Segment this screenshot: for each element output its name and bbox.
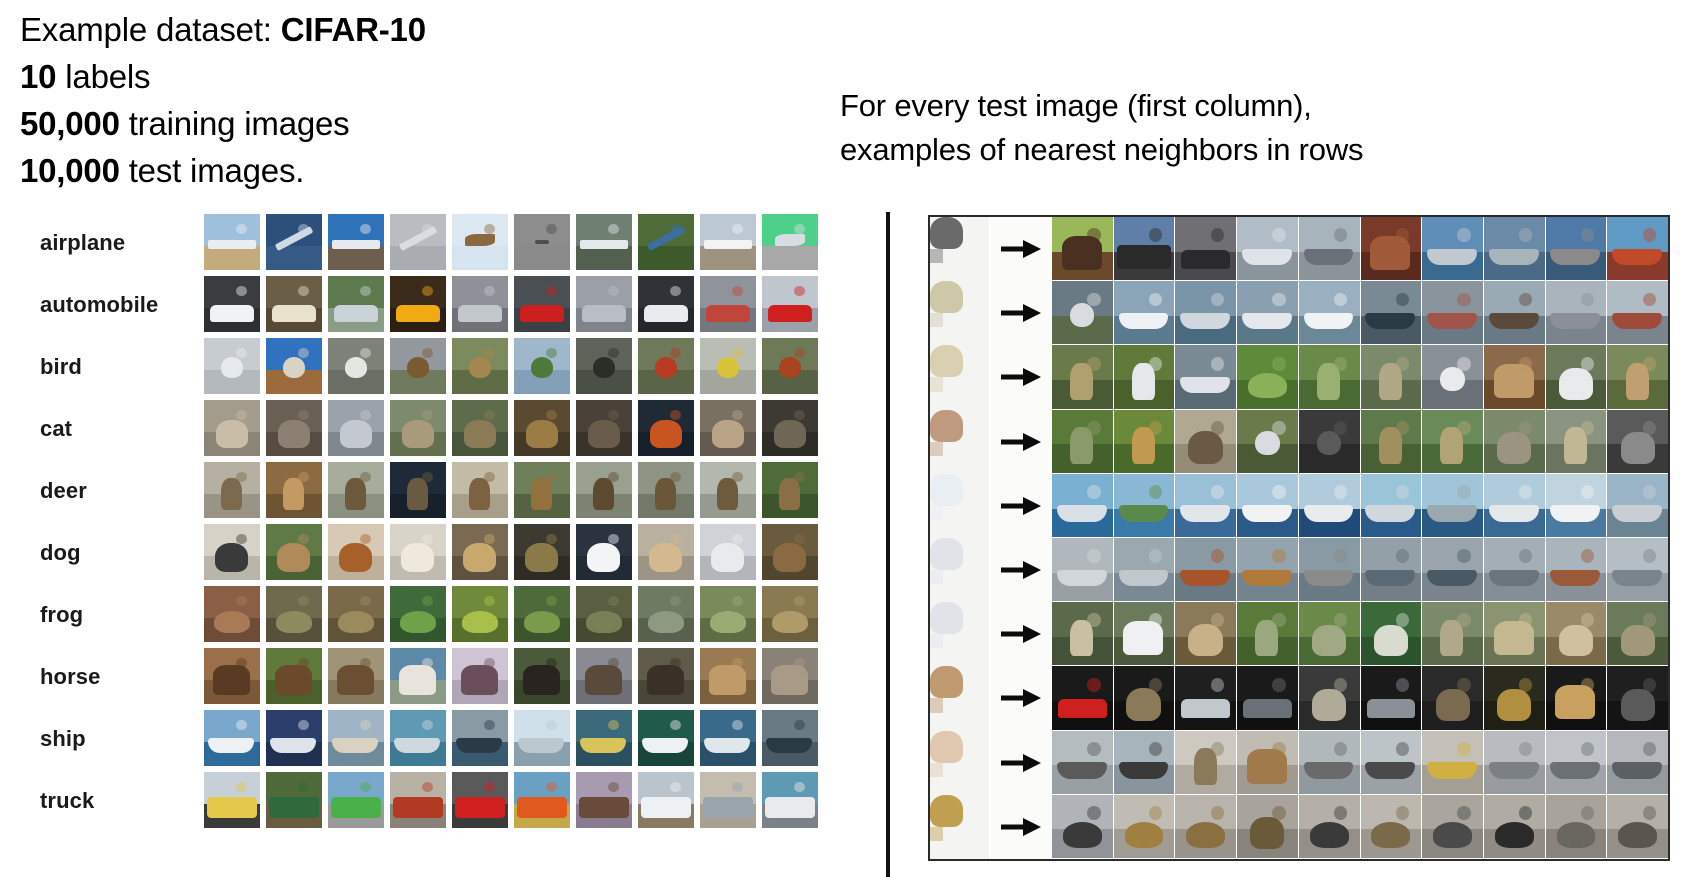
nn-neighbor-image[interactable] xyxy=(1361,217,1423,281)
thumb-highlight xyxy=(236,472,246,482)
class-thumbnail[interactable] xyxy=(514,710,570,766)
class-thumbnail[interactable] xyxy=(576,710,632,766)
nn-neighbor-image[interactable] xyxy=(1114,795,1176,859)
nn-neighbor-image[interactable] xyxy=(1361,795,1423,859)
nn-neighbor-image[interactable] xyxy=(1237,410,1299,474)
dataset-title-prefix: Example dataset: xyxy=(20,11,281,48)
nn-neighbor-image[interactable] xyxy=(1361,474,1423,538)
nn-neighbor-image[interactable] xyxy=(1422,217,1484,281)
thumb-highlight xyxy=(298,658,308,668)
thumb-subject xyxy=(1312,625,1346,657)
class-thumb-strip xyxy=(204,276,818,332)
nn-neighbor-image[interactable] xyxy=(1546,602,1608,666)
class-thumbnail[interactable] xyxy=(514,400,570,456)
thumb-highlight xyxy=(608,348,618,358)
nn-test-image[interactable] xyxy=(930,345,990,409)
thumb-sky xyxy=(638,276,694,308)
thumb-subject xyxy=(1559,625,1593,657)
class-thumbnail[interactable] xyxy=(266,586,322,642)
class-thumbnail[interactable] xyxy=(638,772,694,828)
nn-neighbor-image[interactable] xyxy=(1546,217,1608,281)
thumb-subject xyxy=(1125,822,1164,847)
class-thumbnail[interactable] xyxy=(390,648,446,704)
training-images-label: training images xyxy=(120,105,350,142)
class-thumbnail[interactable] xyxy=(204,648,260,704)
class-thumbnail[interactable] xyxy=(638,710,694,766)
nn-neighbor-image[interactable] xyxy=(1484,345,1546,409)
nn-neighbor-image[interactable] xyxy=(1546,281,1608,345)
class-thumbnail[interactable] xyxy=(328,648,384,704)
class-thumbnail[interactable] xyxy=(390,400,446,456)
nn-neighbor-image[interactable] xyxy=(1361,410,1423,474)
class-thumbnail[interactable] xyxy=(266,524,322,580)
nn-test-image[interactable] xyxy=(930,666,990,730)
thumb-highlight xyxy=(360,596,370,606)
nn-neighbor-image[interactable] xyxy=(1114,602,1176,666)
nn-arrow-cell xyxy=(990,602,1052,666)
class-thumb-strip xyxy=(204,648,818,704)
thumb-highlight xyxy=(1643,806,1656,820)
class-thumbnail[interactable] xyxy=(514,772,570,828)
labels-count-line: 10 labels xyxy=(20,53,820,100)
class-thumbnail[interactable] xyxy=(638,648,694,704)
class-thumbnail[interactable] xyxy=(328,524,384,580)
thumb-highlight xyxy=(236,286,246,296)
nn-neighbor-image[interactable] xyxy=(1237,602,1299,666)
thumb-sky xyxy=(514,276,570,308)
class-thumbnail[interactable] xyxy=(328,276,384,332)
thumb-highlight xyxy=(484,348,494,358)
nn-neighbor-image[interactable] xyxy=(1422,345,1484,409)
class-thumbnail[interactable] xyxy=(266,338,322,394)
thumb-highlight xyxy=(670,348,680,358)
class-thumbnail[interactable] xyxy=(204,276,260,332)
nn-test-image[interactable] xyxy=(930,474,990,538)
class-thumbnail[interactable] xyxy=(762,214,818,270)
class-thumbnail[interactable] xyxy=(762,276,818,332)
class-thumbnail[interactable] xyxy=(204,710,260,766)
thumb-subject xyxy=(208,738,254,753)
nn-neighbor-strip xyxy=(1052,666,1668,730)
nn-neighbor-image[interactable] xyxy=(1175,474,1237,538)
nn-neighbor-image[interactable] xyxy=(1607,731,1668,795)
thumb-subject xyxy=(579,797,628,818)
nn-neighbor-image[interactable] xyxy=(1422,602,1484,666)
nn-neighbor-image[interactable] xyxy=(1607,795,1668,859)
nn-neighbor-image[interactable] xyxy=(1607,410,1668,474)
class-thumbnail[interactable] xyxy=(576,772,632,828)
thumb-subject xyxy=(1371,822,1410,847)
nn-test-image[interactable] xyxy=(930,281,990,345)
thumb-highlight xyxy=(732,348,742,358)
class-thumbnail[interactable] xyxy=(266,648,322,704)
panel-divider xyxy=(886,212,890,877)
nn-neighbor-image[interactable] xyxy=(1422,474,1484,538)
thumb-subject xyxy=(1489,313,1539,329)
class-thumbnail[interactable] xyxy=(576,214,632,270)
nn-neighbor-image[interactable] xyxy=(1114,731,1176,795)
nn-neighbor-image[interactable] xyxy=(1422,666,1484,730)
class-thumbnail[interactable] xyxy=(328,462,384,518)
class-thumbnail[interactable] xyxy=(762,710,818,766)
thumb-highlight xyxy=(360,472,370,482)
class-thumbnail[interactable] xyxy=(390,276,446,332)
nn-neighbor-image[interactable] xyxy=(1237,666,1299,730)
class-thumbnail[interactable] xyxy=(638,462,694,518)
class-thumbnail[interactable] xyxy=(452,524,508,580)
nn-test-image[interactable] xyxy=(930,795,990,859)
class-thumbnail[interactable] xyxy=(700,400,756,456)
nn-neighbor-image[interactable] xyxy=(1607,666,1668,730)
nn-neighbor-image[interactable] xyxy=(1052,602,1114,666)
thumb-highlight xyxy=(1087,293,1100,307)
class-thumbnail[interactable] xyxy=(700,772,756,828)
nn-neighbor-image[interactable] xyxy=(1299,795,1361,859)
thumb-subject xyxy=(1618,822,1657,847)
thumb-sky xyxy=(1607,217,1668,252)
class-thumbnail[interactable] xyxy=(390,462,446,518)
dataset-name: CIFAR-10 xyxy=(281,11,426,48)
nn-neighbor-image[interactable] xyxy=(1237,538,1299,602)
nn-neighbor-image[interactable] xyxy=(1175,602,1237,666)
nn-neighbor-image[interactable] xyxy=(1299,217,1361,281)
thumb-subject xyxy=(1117,245,1170,269)
nn-neighbor-image[interactable] xyxy=(1175,731,1237,795)
nn-arrow-cell xyxy=(990,345,1052,409)
class-thumbnail[interactable] xyxy=(762,524,818,580)
nn-neighbor-image[interactable] xyxy=(1114,281,1176,345)
nn-neighbor-image[interactable] xyxy=(1052,281,1114,345)
nn-neighbor-image[interactable] xyxy=(1361,666,1423,730)
class-thumbnail[interactable] xyxy=(204,462,260,518)
thumb-subject xyxy=(401,543,433,572)
nn-row xyxy=(930,345,1668,409)
nn-neighbor-image[interactable] xyxy=(1175,345,1237,409)
class-thumbnail[interactable] xyxy=(514,586,570,642)
class-thumbnail[interactable] xyxy=(204,214,260,270)
nn-neighbor-image[interactable] xyxy=(1175,538,1237,602)
thumb-ground xyxy=(762,246,818,270)
class-thumbnail[interactable] xyxy=(328,586,384,642)
nn-neighbor-image[interactable] xyxy=(1175,410,1237,474)
class-thumbnail[interactable] xyxy=(266,276,322,332)
thumb-highlight xyxy=(1581,678,1594,692)
nn-test-image[interactable] xyxy=(930,217,990,281)
class-thumbnail[interactable] xyxy=(638,214,694,270)
nn-neighbor-image[interactable] xyxy=(1484,666,1546,730)
nn-neighbor-image[interactable] xyxy=(1484,795,1546,859)
class-thumbnail[interactable] xyxy=(638,586,694,642)
nn-neighbor-image[interactable] xyxy=(1361,345,1423,409)
class-thumbnail[interactable] xyxy=(576,338,632,394)
class-thumbnail[interactable] xyxy=(638,276,694,332)
class-thumbnail[interactable] xyxy=(762,648,818,704)
class-thumbnail[interactable] xyxy=(576,276,632,332)
nn-neighbor-image[interactable] xyxy=(1607,474,1668,538)
thumb-sky xyxy=(1175,538,1236,573)
class-thumbnail[interactable] xyxy=(700,710,756,766)
nn-neighbor-image[interactable] xyxy=(1607,281,1668,345)
nn-neighbor-image[interactable] xyxy=(1546,410,1608,474)
training-images-line: 50,000 training images xyxy=(20,100,820,147)
nn-neighbor-image[interactable] xyxy=(1052,731,1114,795)
thumb-highlight xyxy=(794,410,804,420)
class-thumbnail[interactable] xyxy=(700,462,756,518)
nn-arrow-cell xyxy=(990,217,1052,281)
thumb-sky xyxy=(1237,217,1298,252)
class-thumbnail[interactable] xyxy=(328,400,384,456)
class-thumbnail[interactable] xyxy=(328,338,384,394)
class-thumbnail[interactable] xyxy=(390,214,446,270)
thumb-subject xyxy=(1242,313,1292,329)
nn-neighbor-image[interactable] xyxy=(1052,345,1114,409)
nn-test-image[interactable] xyxy=(930,731,990,795)
nn-neighbor-image[interactable] xyxy=(1484,538,1546,602)
nn-neighbor-image[interactable] xyxy=(1361,731,1423,795)
class-thumbnail[interactable] xyxy=(514,338,570,394)
class-thumbnail[interactable] xyxy=(390,524,446,580)
class-thumbnail[interactable] xyxy=(390,772,446,828)
class-thumbnail[interactable] xyxy=(514,214,570,270)
nn-neighbor-image[interactable] xyxy=(1114,538,1176,602)
nn-neighbor-strip xyxy=(1052,345,1668,409)
nn-neighbor-image[interactable] xyxy=(1299,474,1361,538)
thumb-highlight xyxy=(930,249,943,263)
thumb-highlight xyxy=(1211,228,1224,242)
class-thumbnail[interactable] xyxy=(576,462,632,518)
class-thumbnail[interactable] xyxy=(204,400,260,456)
thumb-highlight xyxy=(1334,678,1347,692)
nn-neighbor-image[interactable] xyxy=(1237,474,1299,538)
class-thumbnail[interactable] xyxy=(266,214,322,270)
class-thumbnail[interactable] xyxy=(514,462,570,518)
thumb-ground xyxy=(700,246,756,270)
thumb-highlight xyxy=(1581,806,1594,820)
nn-test-image[interactable] xyxy=(930,602,990,666)
thumb-highlight xyxy=(608,286,618,296)
nn-neighbor-image[interactable] xyxy=(1052,217,1114,281)
nn-neighbor-image[interactable] xyxy=(1546,538,1608,602)
thumb-highlight xyxy=(608,472,618,482)
class-thumbnail[interactable] xyxy=(700,586,756,642)
nn-neighbor-image[interactable] xyxy=(1361,538,1423,602)
class-thumbnail[interactable] xyxy=(700,276,756,332)
class-thumb-strip xyxy=(204,462,818,518)
nn-neighbor-image[interactable] xyxy=(1175,281,1237,345)
class-thumbnail[interactable] xyxy=(328,214,384,270)
class-thumbnail[interactable] xyxy=(452,710,508,766)
nn-neighbor-image[interactable] xyxy=(1114,345,1176,409)
nn-neighbor-image[interactable] xyxy=(1546,666,1608,730)
nn-neighbor-image[interactable] xyxy=(1607,602,1668,666)
nn-neighbor-image[interactable] xyxy=(1546,345,1608,409)
nn-neighbor-image[interactable] xyxy=(1299,666,1361,730)
thumb-subject xyxy=(1242,570,1292,586)
class-thumbnail[interactable] xyxy=(266,710,322,766)
thumb-subject xyxy=(400,611,436,633)
class-thumbnail[interactable] xyxy=(762,772,818,828)
nn-neighbor-image[interactable] xyxy=(1114,666,1176,730)
nn-neighbor-image[interactable] xyxy=(1237,345,1299,409)
thumb-sky xyxy=(328,276,384,308)
nn-neighbor-image[interactable] xyxy=(1175,666,1237,730)
thumb-sky xyxy=(1607,538,1668,573)
thumb-subject xyxy=(930,795,963,827)
nn-neighbor-image[interactable] xyxy=(1175,217,1237,281)
nn-neighbor-image[interactable] xyxy=(1237,795,1299,859)
class-thumbnail[interactable] xyxy=(452,586,508,642)
class-thumbnail[interactable] xyxy=(266,462,322,518)
nn-neighbor-image[interactable] xyxy=(1299,345,1361,409)
class-thumbnail[interactable] xyxy=(700,338,756,394)
thumb-highlight xyxy=(930,506,943,520)
thumb-ground xyxy=(576,246,632,270)
nn-neighbor-image[interactable] xyxy=(1607,538,1668,602)
class-thumbnail[interactable] xyxy=(514,648,570,704)
thumb-sky xyxy=(1484,474,1545,509)
nn-neighbor-image[interactable] xyxy=(1237,281,1299,345)
class-thumbnail[interactable] xyxy=(452,648,508,704)
nn-neighbor-image[interactable] xyxy=(1422,795,1484,859)
class-thumbnail[interactable] xyxy=(576,586,632,642)
class-thumbnail[interactable] xyxy=(576,524,632,580)
class-row: airplane xyxy=(22,212,872,274)
thumb-sky xyxy=(1237,474,1298,509)
nn-neighbor-image[interactable] xyxy=(1299,538,1361,602)
nn-neighbor-image[interactable] xyxy=(1484,731,1546,795)
class-row: dog xyxy=(22,522,872,584)
class-thumbnail[interactable] xyxy=(700,648,756,704)
nn-neighbor-image[interactable] xyxy=(1052,538,1114,602)
nn-neighbor-image[interactable] xyxy=(1484,217,1546,281)
nn-neighbor-image[interactable] xyxy=(1114,410,1176,474)
class-thumbnail[interactable] xyxy=(452,214,508,270)
class-thumbnail[interactable] xyxy=(638,400,694,456)
thumb-subject xyxy=(283,357,305,378)
class-thumbnail[interactable] xyxy=(452,400,508,456)
thumb-subject xyxy=(221,357,243,378)
class-thumbnail[interactable] xyxy=(390,338,446,394)
thumb-sky xyxy=(1114,281,1175,316)
thumb-highlight xyxy=(546,286,556,296)
nn-neighbor-image[interactable] xyxy=(1361,602,1423,666)
thumb-highlight xyxy=(732,658,742,668)
thumb-highlight xyxy=(670,410,680,420)
class-thumbnail[interactable] xyxy=(762,338,818,394)
nn-neighbor-image[interactable] xyxy=(1237,217,1299,281)
thumb-sky xyxy=(1175,217,1236,252)
thumb-subject xyxy=(1119,505,1169,521)
class-thumbnail[interactable] xyxy=(700,214,756,270)
thumb-subject xyxy=(339,543,371,572)
class-thumbnail[interactable] xyxy=(204,586,260,642)
class-thumbnail[interactable] xyxy=(452,338,508,394)
class-thumbnail[interactable] xyxy=(576,400,632,456)
nn-neighbor-image[interactable] xyxy=(1546,795,1608,859)
nn-row xyxy=(930,281,1668,345)
class-thumbnail[interactable] xyxy=(266,400,322,456)
nn-neighbor-image[interactable] xyxy=(1299,281,1361,345)
nn-neighbor-image[interactable] xyxy=(1052,666,1114,730)
nn-neighbor-image[interactable] xyxy=(1175,795,1237,859)
class-thumbnail[interactable] xyxy=(576,648,632,704)
class-thumbnail[interactable] xyxy=(204,524,260,580)
thumb-highlight xyxy=(422,286,432,296)
nn-neighbor-image[interactable] xyxy=(1607,345,1668,409)
thumb-subject xyxy=(1304,313,1354,329)
class-thumbnail[interactable] xyxy=(762,400,818,456)
nn-test-image[interactable] xyxy=(930,410,990,474)
class-thumbnail[interactable] xyxy=(514,524,570,580)
nn-neighbor-image[interactable] xyxy=(1361,281,1423,345)
nn-neighbor-image[interactable] xyxy=(1484,602,1546,666)
thumb-highlight xyxy=(1272,742,1285,756)
thumb-subject xyxy=(1427,313,1477,329)
class-thumbnail[interactable] xyxy=(390,710,446,766)
nn-neighbor-image[interactable] xyxy=(1114,474,1176,538)
class-thumbnail[interactable] xyxy=(452,276,508,332)
nn-neighbor-image[interactable] xyxy=(1299,410,1361,474)
class-thumbnail[interactable] xyxy=(204,338,260,394)
class-thumbnail[interactable] xyxy=(390,586,446,642)
thumb-sky xyxy=(1237,281,1298,316)
class-thumbnail[interactable] xyxy=(762,586,818,642)
nn-neighbor-image[interactable] xyxy=(1052,474,1114,538)
thumb-highlight xyxy=(1211,549,1224,563)
thumb-subject xyxy=(1119,313,1169,329)
class-thumbnail[interactable] xyxy=(452,462,508,518)
thumb-subject xyxy=(337,665,374,695)
nn-neighbor-image[interactable] xyxy=(1422,731,1484,795)
nn-neighbor-image[interactable] xyxy=(1484,410,1546,474)
nn-neighbor-image[interactable] xyxy=(1052,410,1114,474)
class-thumbnail[interactable] xyxy=(328,710,384,766)
class-thumbnail[interactable] xyxy=(204,772,260,828)
nn-neighbor-image[interactable] xyxy=(1546,474,1608,538)
nn-neighbor-image[interactable] xyxy=(1546,731,1608,795)
nn-test-image[interactable] xyxy=(930,538,990,602)
class-thumbnail[interactable] xyxy=(638,338,694,394)
class-thumbnail[interactable] xyxy=(266,772,322,828)
nn-neighbor-image[interactable] xyxy=(1114,217,1176,281)
class-thumbnail[interactable] xyxy=(762,462,818,518)
thumb-subject xyxy=(394,738,440,753)
nn-neighbor-image[interactable] xyxy=(1422,538,1484,602)
thumb-subject xyxy=(647,665,684,695)
thumb-highlight xyxy=(546,410,556,420)
thumb-highlight xyxy=(930,570,943,584)
nn-neighbor-image[interactable] xyxy=(1484,474,1546,538)
class-thumbnail[interactable] xyxy=(638,524,694,580)
nn-neighbor-image[interactable] xyxy=(1052,795,1114,859)
thumb-subject xyxy=(221,478,242,510)
thumb-subject xyxy=(1304,570,1354,586)
class-thumbnail[interactable] xyxy=(700,524,756,580)
nn-neighbor-image[interactable] xyxy=(1237,731,1299,795)
nn-neighbor-image[interactable] xyxy=(1484,281,1546,345)
thumb-highlight xyxy=(422,348,432,358)
nn-neighbor-image[interactable] xyxy=(1422,281,1484,345)
class-thumbnail[interactable] xyxy=(452,772,508,828)
nn-neighbor-image[interactable] xyxy=(1299,731,1361,795)
nn-neighbor-image[interactable] xyxy=(1607,217,1668,281)
thumb-subject xyxy=(524,611,560,633)
class-thumbnail[interactable] xyxy=(514,276,570,332)
class-thumbnail[interactable] xyxy=(328,772,384,828)
nn-neighbor-image[interactable] xyxy=(1422,410,1484,474)
nn-neighbor-image[interactable] xyxy=(1299,602,1361,666)
thumb-highlight xyxy=(608,534,618,544)
